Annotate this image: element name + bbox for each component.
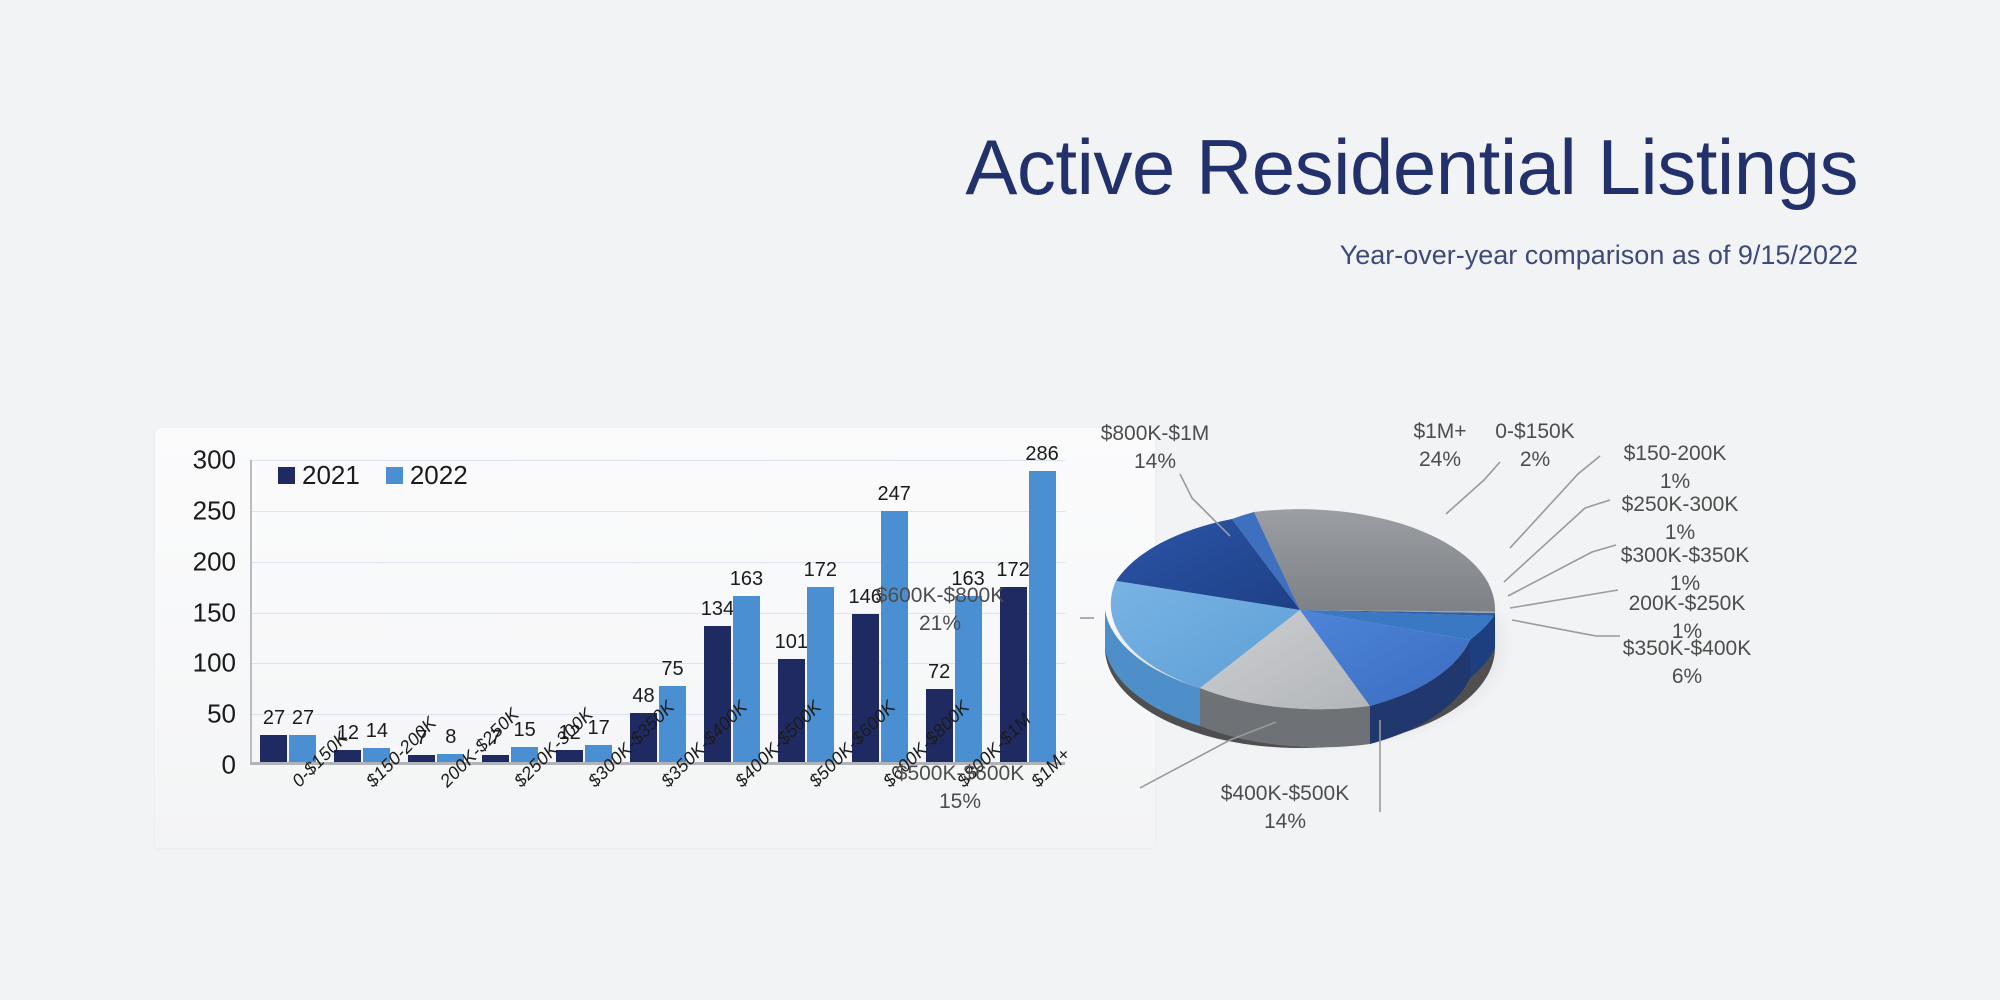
pie-label--800k-1m: $800K-$1M14%	[1070, 420, 1240, 475]
x-label-cell: $350K-$400K	[621, 768, 695, 848]
bar-value-label: 72	[928, 661, 950, 684]
bar-value-label: 134	[701, 598, 734, 621]
bar-2022[interactable]: 286	[1029, 471, 1056, 762]
y-axis-tick: 150	[166, 597, 236, 628]
x-label-cell: $400K-$500K	[694, 768, 768, 848]
page-subtitle: Year-over-year comparison as of 9/15/202…	[1340, 240, 1858, 271]
pie-label-name: $600K-$800K	[876, 584, 1004, 607]
pie-label-name: $800K-$1M	[1101, 422, 1210, 445]
bar-value-label: 27	[292, 707, 314, 730]
pie-label-name: $1M+	[1413, 420, 1466, 443]
pie-label-name: $400K-$500K	[1221, 782, 1349, 805]
bar-value-label: 163	[730, 568, 763, 591]
pie-label-percent: 2%	[1475, 446, 1595, 474]
pie-label--150-200k: $150-200K1%	[1580, 440, 1770, 495]
x-label-cell: $150-200K	[325, 768, 399, 848]
x-label-cell: 200K-$250K	[399, 768, 473, 848]
bar-value-label: 247	[878, 483, 911, 506]
bar-value-label: 27	[263, 707, 285, 730]
pie-label--500k-600k: $500K-$600K15%	[870, 760, 1050, 815]
bar-value-label: 172	[996, 559, 1029, 582]
pie-label-name: $300K-$350K	[1621, 544, 1749, 567]
bar-group: 1214	[325, 460, 399, 762]
slide-canvas: Active Residential Listings Year-over-ye…	[0, 0, 2000, 1000]
bar-value-label: 14	[366, 720, 388, 743]
pie-label-name: $500K-$600K	[896, 762, 1024, 785]
x-label-cell: $250K-300K	[473, 768, 547, 848]
y-axis-tick: 50	[166, 699, 236, 730]
bar-value-label: 8	[445, 726, 456, 749]
pie-label--250k-300k: $250K-300K1%	[1585, 491, 1775, 546]
x-label-cell: $500K-$600K	[768, 768, 842, 848]
pie-label-name: 0-$150K	[1495, 420, 1574, 443]
y-axis-tick: 250	[166, 495, 236, 526]
y-axis-tick: 300	[166, 445, 236, 476]
bar-2022[interactable]: 163	[733, 596, 760, 762]
pie-label--400k-500k: $400K-$500K14%	[1195, 780, 1375, 835]
bar-value-label: 75	[661, 658, 683, 681]
bar-value-label: 101	[775, 631, 808, 654]
y-axis-tick: 100	[166, 648, 236, 679]
pie-label-name: $250K-300K	[1622, 493, 1739, 516]
y-axis-tick: 200	[166, 546, 236, 577]
pie-label-percent: 6%	[1592, 663, 1782, 691]
header: Active Residential Listings Year-over-ye…	[0, 0, 2000, 300]
pie-label-percent: 15%	[870, 788, 1050, 816]
pie-label-percent: 14%	[1070, 448, 1240, 476]
page-title: Active Residential Listings	[965, 128, 1858, 206]
bar-2022[interactable]: 172	[807, 587, 834, 762]
x-label-cell: $300K-$350K	[547, 768, 621, 848]
pie-label-percent: 21%	[850, 610, 1030, 638]
bar-value-label: 286	[1025, 443, 1058, 466]
bar-2021[interactable]: 27	[260, 735, 287, 762]
bar-group: 2727	[252, 460, 326, 762]
bar-value-label: 48	[632, 685, 654, 708]
pie-chart: $1M+24%0-$150K2%$150-200K1%$250K-300K1%$…	[1080, 440, 1980, 860]
x-label-cell: 0-$150K	[251, 768, 325, 848]
y-axis-tick: 0	[166, 750, 236, 781]
pie-label-0-150k: 0-$150K2%	[1475, 418, 1595, 473]
pie-label-name: $150-200K	[1624, 442, 1727, 465]
pie-label-name: $350K-$400K	[1623, 637, 1751, 660]
pie-label--600k-800k: $600K-$800K21%	[850, 582, 1030, 637]
bar-value-label: 172	[804, 559, 837, 582]
pie-label-percent: 14%	[1195, 808, 1375, 836]
pie-label--350k-400k: $350K-$400K6%	[1592, 635, 1782, 690]
bar-group: 78	[399, 460, 473, 762]
pie-label-name: 200K-$250K	[1629, 592, 1746, 615]
